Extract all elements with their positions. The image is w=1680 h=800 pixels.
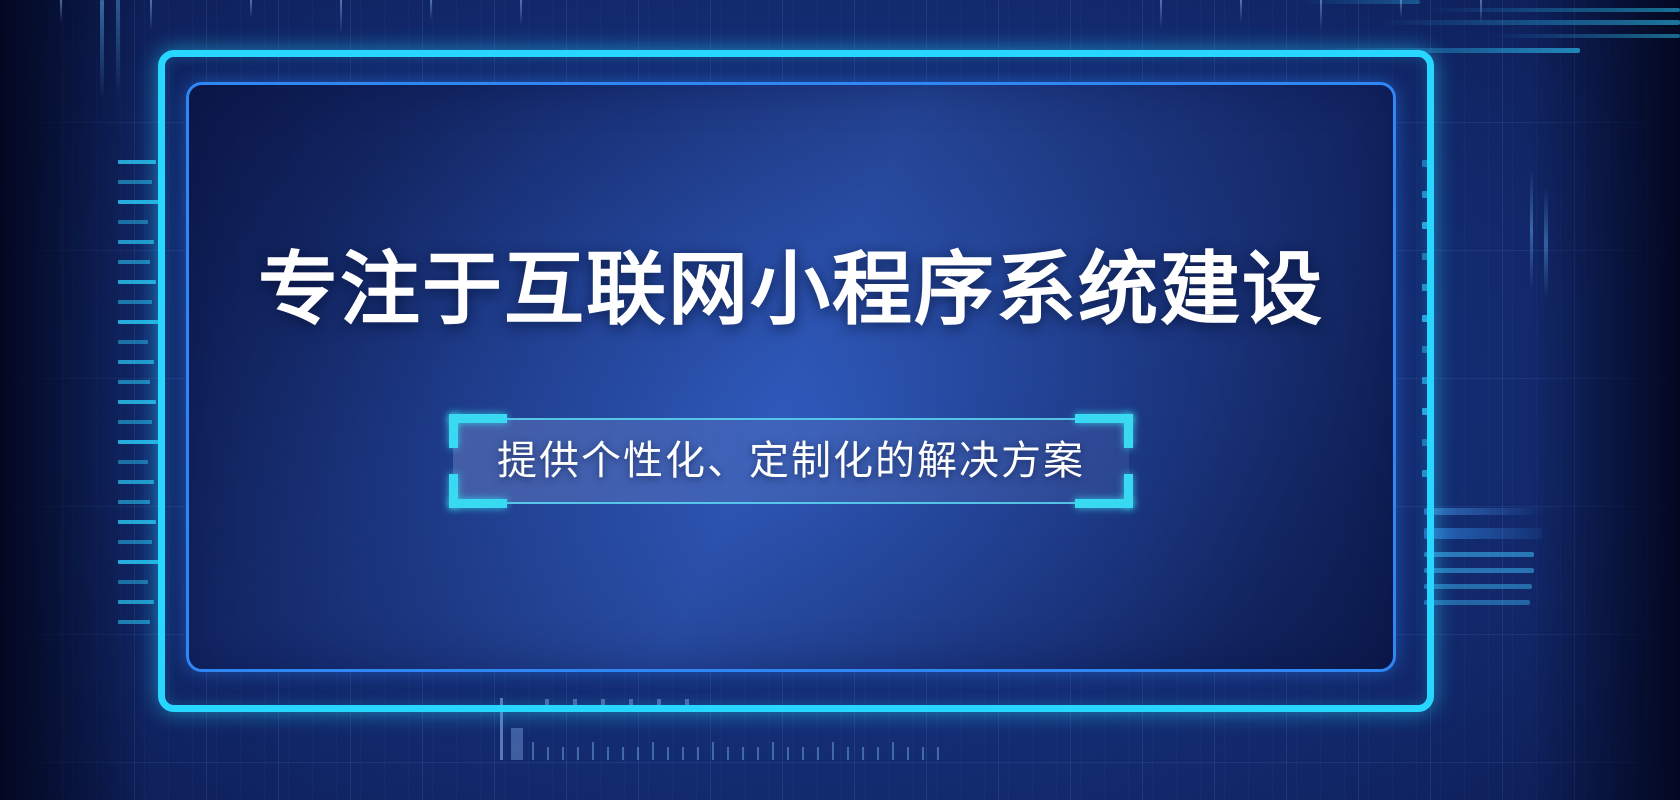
data-bar [1430, 8, 1680, 12]
ruler-tick [118, 520, 156, 524]
ruler-tick [118, 320, 158, 324]
ruler-tick [118, 540, 152, 544]
equalizer-tick [742, 747, 744, 760]
hairline-tick [1320, 0, 1322, 30]
hairline-tick [1240, 0, 1242, 22]
ruler-tick [118, 600, 154, 604]
hairline-tick [520, 0, 522, 26]
equalizer-tick [532, 742, 534, 760]
hairline-tick [150, 0, 152, 30]
equalizer-tick [592, 742, 594, 760]
equalizer-tick [622, 747, 624, 760]
accent-column [100, 0, 104, 100]
ruler-tick [118, 420, 152, 424]
equalizer-tick [607, 747, 609, 760]
hairline-tick [1160, 0, 1162, 28]
hairline-tick [340, 0, 342, 34]
equalizer-tick [562, 747, 564, 760]
equalizer-tick [937, 747, 939, 760]
banner-headline: 专注于互联网小程序系统建设 [258, 250, 1324, 330]
equalizer-tick [817, 747, 819, 760]
ruler-tick [118, 300, 152, 304]
ruler-tick [118, 500, 150, 504]
ruler-tick [118, 380, 150, 384]
equalizer-tick [907, 747, 909, 760]
accent-column [116, 0, 120, 98]
ruler-tick [118, 220, 148, 224]
data-bar [1300, 0, 1420, 4]
equalizer-tick [922, 747, 924, 760]
equalizer-tick [862, 747, 864, 760]
ruler-tick [118, 460, 148, 464]
data-bar [1424, 584, 1532, 589]
ruler-tick [118, 560, 158, 564]
data-bar [1380, 20, 1680, 25]
accent-column [1544, 188, 1548, 298]
equalizer-tick [577, 747, 579, 760]
equalizer-tick [667, 747, 669, 760]
ruler-tick [118, 240, 154, 244]
ruler-tick [118, 400, 156, 404]
hairline-tick [250, 0, 252, 18]
equalizer-tick [757, 747, 759, 760]
equalizer-tick [697, 747, 699, 760]
data-bar [1424, 552, 1534, 557]
banner-stage: 专注于互联网小程序系统建设 提供个性化、定制化的解决方案 [0, 0, 1680, 800]
hairline-tick [60, 0, 62, 22]
subtitle-box: 提供个性化、定制化的解决方案 [453, 418, 1129, 504]
equalizer-tick [637, 747, 639, 760]
equalizer-tick [892, 742, 894, 760]
ruler-tick [118, 480, 154, 484]
equalizer-tick [877, 747, 879, 760]
left-tick-ruler [118, 160, 158, 640]
ruler-tick [118, 580, 148, 584]
equalizer-tick [772, 742, 774, 760]
ruler-tick [118, 340, 148, 344]
equalizer-tick [727, 747, 729, 760]
data-bar [1424, 600, 1530, 605]
right-edge-vignette [1530, 0, 1680, 800]
data-bar [1424, 508, 1544, 515]
equalizer-tick [787, 747, 789, 760]
equalizer-tick [682, 747, 684, 760]
equalizer-block [511, 728, 523, 760]
subtitle-wrapper: 提供个性化、定制化的解决方案 [453, 418, 1129, 504]
ruler-tick [118, 360, 154, 364]
equalizer-tick [547, 747, 549, 760]
hairline-tick [430, 0, 432, 20]
data-bar [1424, 528, 1542, 539]
content-panel: 专注于互联网小程序系统建设 提供个性化、定制化的解决方案 [186, 82, 1396, 672]
banner-content: 专注于互联网小程序系统建设 提供个性化、定制化的解决方案 [189, 85, 1393, 669]
ruler-tick [118, 440, 158, 444]
data-bar [1424, 568, 1534, 573]
ruler-tick [118, 200, 158, 204]
banner-subtitle: 提供个性化、定制化的解决方案 [497, 438, 1085, 484]
ruler-tick [118, 180, 152, 184]
accent-column [1530, 170, 1533, 290]
equalizer-tick [652, 742, 654, 760]
ruler-tick [118, 280, 156, 284]
ruler-tick [118, 260, 150, 264]
data-bar [1490, 34, 1680, 38]
equalizer-tick [712, 742, 714, 760]
equalizer-tick [802, 747, 804, 760]
ruler-tick [118, 620, 150, 624]
equalizer-tick [847, 747, 849, 760]
ruler-tick [118, 160, 156, 164]
equalizer-tick [832, 742, 834, 760]
